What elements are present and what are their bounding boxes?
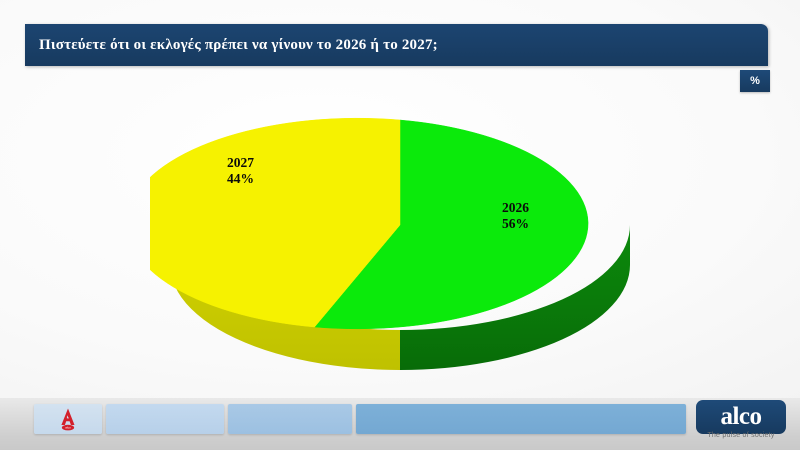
- alco-logo: alco: [696, 400, 786, 434]
- footer-segment-3: [228, 404, 352, 434]
- footer-bar: alco: [0, 398, 800, 450]
- footer-segment-4: [356, 404, 686, 434]
- pie-chart-svg: [150, 95, 650, 395]
- percent-symbol: %: [740, 70, 770, 92]
- slice-label-2026: 2026 56%: [502, 200, 529, 232]
- slice-label-2027-name: 2027: [227, 155, 254, 171]
- slide-canvas: Πιστεύετε ότι οι εκλογές πρέπει να γίνου…: [0, 0, 800, 450]
- slice-label-2027: 2027 44%: [227, 155, 254, 187]
- footer-segment-2: [106, 404, 224, 434]
- red-a-logo-icon: alco: [55, 406, 81, 432]
- alco-wordmark: alco: [696, 400, 786, 434]
- alco-tagline: The pulse of society: [690, 432, 792, 439]
- slice-label-2026-name: 2026: [502, 200, 529, 216]
- svg-text:alco: alco: [65, 426, 71, 430]
- title-bar: Πιστεύετε ότι οι εκλογές πρέπει να γίνου…: [25, 24, 768, 66]
- page-title: Πιστεύετε ότι οι εκλογές πρέπει να γίνου…: [39, 24, 760, 66]
- slice-label-2027-value: 44%: [227, 171, 254, 187]
- pie-chart: 2027 44% 2026 56%: [150, 95, 650, 395]
- percent-unit-badge: %: [740, 70, 770, 92]
- slice-label-2026-value: 56%: [502, 216, 529, 232]
